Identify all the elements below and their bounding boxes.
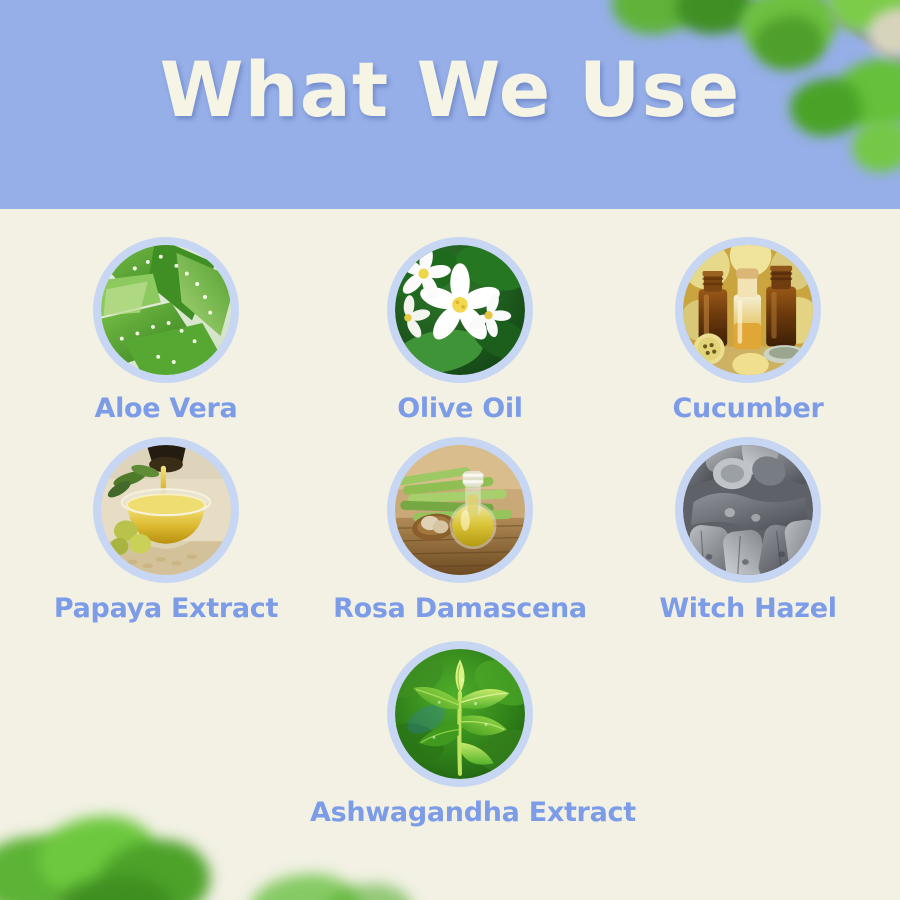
ingredient-label: Aloe Vera [16, 393, 316, 424]
ingredient-grid: Aloe Vera [0, 209, 900, 900]
ingredient-label: Rosa Damascena [310, 593, 610, 624]
amber-oil-bottles-photo [683, 245, 813, 375]
poster-canvas: What We Use [0, 0, 900, 900]
ingredient-image-circle [675, 237, 821, 383]
ingredient-image-circle [93, 437, 239, 583]
golden-oil-bowl-photo [101, 445, 231, 575]
header-band: What We Use [0, 0, 900, 209]
ingredient-card[interactable]: Aloe Vera [16, 237, 316, 424]
ingredient-image-circle [675, 437, 821, 583]
ingredient-label: Olive Oil [310, 393, 610, 424]
grey-charcoal-photo [683, 445, 813, 575]
ingredient-card[interactable]: Papaya Extract [16, 437, 316, 624]
ingredient-image-circle [387, 641, 533, 787]
ingredient-label: Ashwagandha Extract [310, 797, 610, 828]
green-tea-leaves-photo [395, 649, 525, 779]
aloe-vera-leaves-photo [101, 245, 231, 375]
ingredient-label: Witch Hazel [598, 593, 898, 624]
white-blossom-flowers-photo [395, 245, 525, 375]
ingredient-card[interactable]: Rosa Damascena [310, 437, 610, 624]
ingredient-image-circle [387, 437, 533, 583]
oil-bottle-lemongrass-photo [395, 445, 525, 575]
ingredient-card[interactable]: Olive Oil [310, 237, 610, 424]
ingredient-image-circle [387, 237, 533, 383]
ingredient-card[interactable]: Cucumber [598, 237, 898, 424]
ingredient-card[interactable]: Ashwagandha Extract [310, 641, 610, 828]
ingredient-image-circle [93, 237, 239, 383]
ingredient-card[interactable]: Witch Hazel [598, 437, 898, 624]
page-title: What We Use [0, 52, 900, 128]
ingredient-label: Papaya Extract [16, 593, 316, 624]
ingredient-label: Cucumber [598, 393, 898, 424]
